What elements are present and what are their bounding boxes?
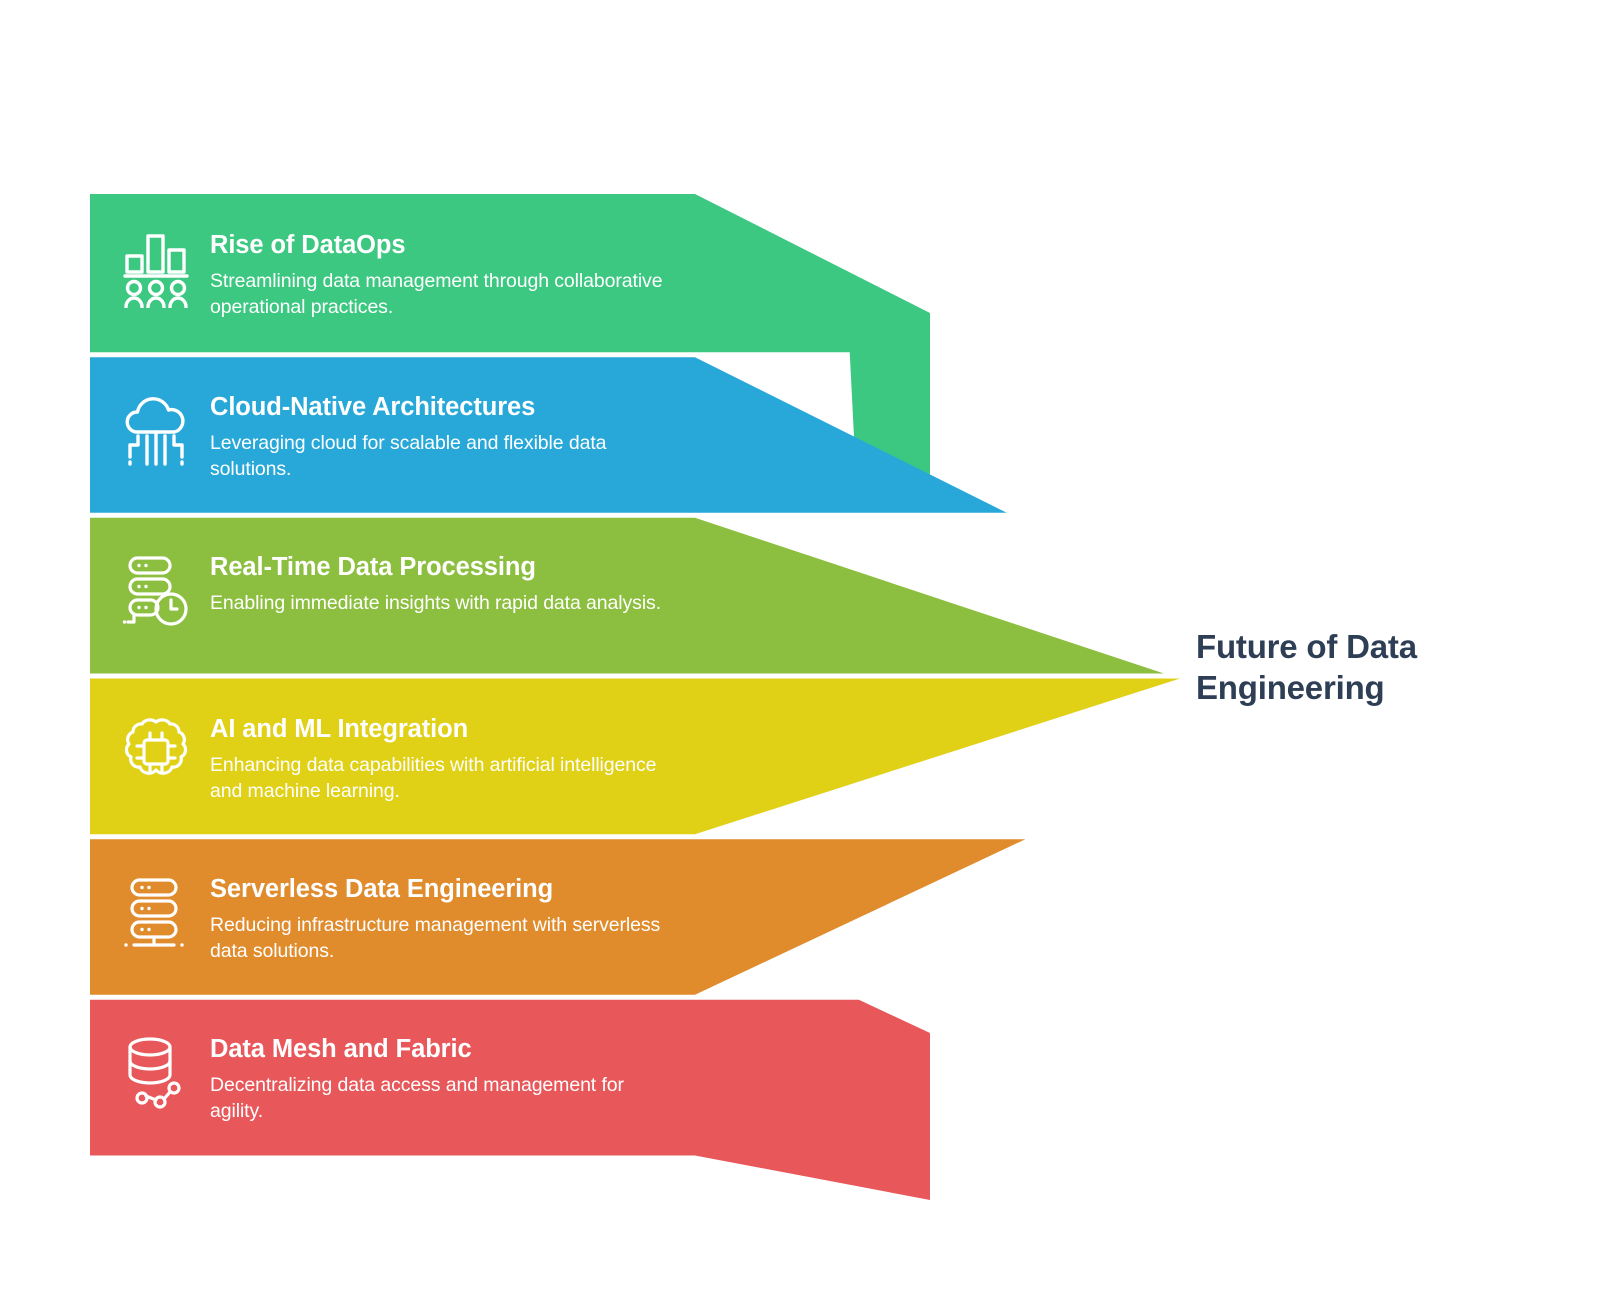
band-item-6[interactable]: Data Mesh and Fabric Decentralizing data… — [90, 1018, 690, 1125]
band-heading-6: Data Mesh and Fabric — [210, 1034, 680, 1064]
band-text-3: Real-Time Data Processing Enabling immed… — [210, 544, 661, 617]
bar-chart-people-icon — [118, 222, 194, 314]
band-item-4[interactable]: AI and ML Integration Enhancing data cap… — [90, 698, 690, 805]
band-description-2: Leveraging cloud for scalable and flexib… — [210, 431, 680, 483]
band-description-3: Enabling immediate insights with rapid d… — [210, 591, 661, 617]
band-item-2[interactable]: Cloud-Native Architectures Leveraging cl… — [90, 376, 690, 483]
brain-chip-icon — [118, 706, 194, 798]
outcome-label: Future of Data Engineering — [1196, 626, 1526, 709]
band-item-5[interactable]: Serverless Data Engineering Reducing inf… — [90, 858, 690, 965]
database-nodes-icon — [118, 1026, 194, 1118]
band-description-6: Decentralizing data access and managemen… — [210, 1073, 680, 1125]
cloud-circuit-icon — [118, 384, 194, 476]
server-stack-icon — [118, 866, 194, 958]
band-heading-4: AI and ML Integration — [210, 714, 680, 744]
band-text-5: Serverless Data Engineering Reducing inf… — [210, 866, 680, 965]
band-heading-1: Rise of DataOps — [210, 230, 680, 260]
server-clock-icon — [118, 544, 194, 636]
band-description-4: Enhancing data capabilities with artific… — [210, 753, 680, 805]
band-text-4: AI and ML Integration Enhancing data cap… — [210, 706, 680, 805]
band-item-3[interactable]: Real-Time Data Processing Enabling immed… — [90, 536, 690, 636]
band-item-1[interactable]: Rise of DataOps Streamlining data manage… — [90, 214, 690, 321]
band-heading-3: Real-Time Data Processing — [210, 552, 661, 582]
band-text-1: Rise of DataOps Streamlining data manage… — [210, 222, 680, 321]
band-text-2: Cloud-Native Architectures Leveraging cl… — [210, 384, 680, 483]
band-heading-5: Serverless Data Engineering — [210, 874, 680, 904]
band-description-1: Streamlining data management through col… — [210, 269, 680, 321]
band-text-6: Data Mesh and Fabric Decentralizing data… — [210, 1026, 680, 1125]
arrow-diagram: Rise of DataOps Streamlining data manage… — [0, 0, 1600, 1309]
band-heading-2: Cloud-Native Architectures — [210, 392, 680, 422]
band-description-5: Reducing infrastructure management with … — [210, 913, 680, 965]
